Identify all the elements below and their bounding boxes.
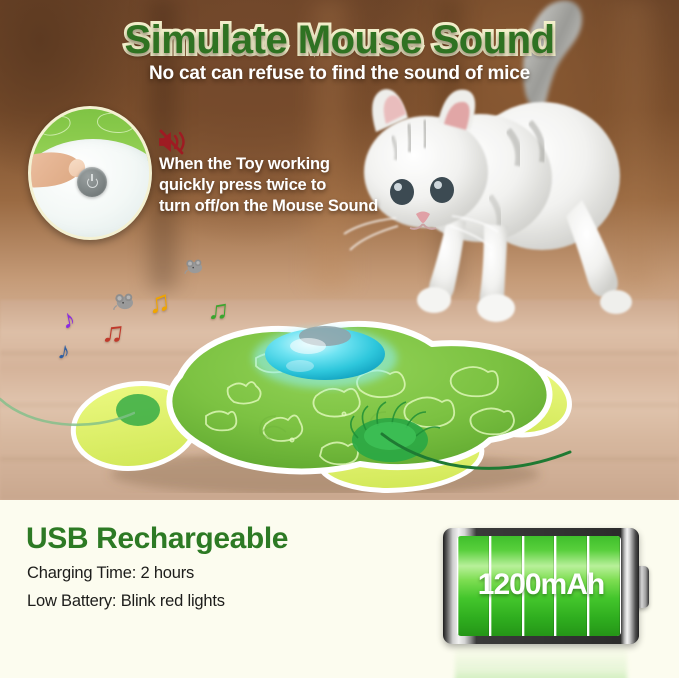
mouse-icon xyxy=(184,258,204,274)
charging-time-text: Charging Time: 2 hours xyxy=(27,564,194,583)
page-title: Simulate Mouse Sound xyxy=(0,18,679,63)
battery-capacity-label: 1200mAh xyxy=(443,568,639,602)
instruction-text: When the Toy working quickly press twice… xyxy=(159,154,559,217)
page-subtitle: No cat can refuse to find the sound of m… xyxy=(0,63,679,85)
toy-wand-left xyxy=(0,395,135,440)
power-icon xyxy=(87,177,98,188)
usb-heading: USB Rechargeable xyxy=(26,522,288,556)
toy-wand-right xyxy=(380,430,580,490)
photo-panel: Simulate Mouse Sound No cat can refuse t… xyxy=(0,0,679,500)
music-note-icon: ♫ xyxy=(146,287,172,319)
low-battery-text: Low Battery: Blink red lights xyxy=(27,592,225,611)
battery-reflection xyxy=(455,646,627,678)
instruction-line-1: When the Toy working xyxy=(159,154,559,175)
power-button-closeup-inset xyxy=(28,106,152,240)
power-button[interactable] xyxy=(77,167,107,197)
instruction-line-3: turn off/on the Mouse Sound xyxy=(159,196,559,217)
product-feature-image: Simulate Mouse Sound No cat can refuse t… xyxy=(0,0,679,678)
speaker-muted-icon xyxy=(157,128,189,156)
instruction-line-2: quickly press twice to xyxy=(159,175,559,196)
battery-casing: 1200mAh xyxy=(443,528,639,644)
battery-graphic: 1200mAh xyxy=(443,528,651,648)
mouse-icon xyxy=(113,292,135,310)
